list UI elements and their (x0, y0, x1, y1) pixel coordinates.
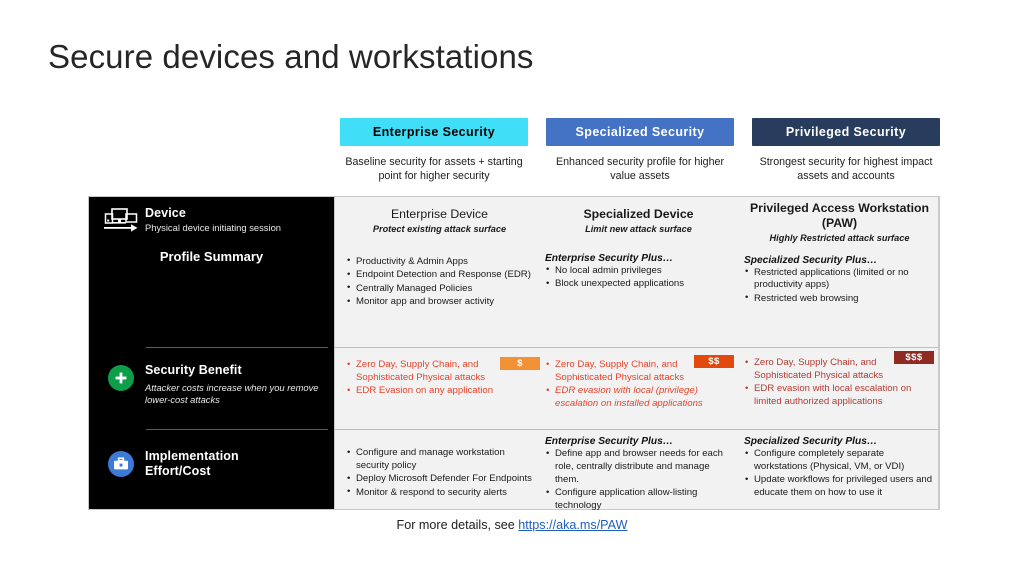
rail-divider-2 (146, 429, 328, 430)
list-item: Centrally Managed Policies (346, 283, 533, 296)
list-item: Monitor app and browser activity (346, 296, 533, 309)
list-item: Update workflows for privileged users an… (744, 474, 935, 500)
cell-plus-line: Enterprise Security Plus… (545, 253, 732, 264)
row-title-implementation-line1: Implementation (145, 449, 326, 464)
column-header-privileged: Privileged Security Strongest security f… (752, 118, 940, 183)
list-item: Endpoint Detection and Response (EDR) (346, 269, 533, 282)
list-item: Deploy Microsoft Defender For Endpoints (346, 473, 533, 486)
cell-plus-line: Specialized Security Plus… (744, 436, 935, 447)
cell-device-enterprise: Enterprise Device Protect existing attac… (340, 207, 539, 310)
bullet-list: Define app and browser needs for each ro… (545, 448, 732, 513)
list-item: Restricted applications (limited or no p… (744, 267, 935, 293)
row-subtitle-device: Physical device initiating session (145, 222, 326, 234)
cell-plus-line: Specialized Security Plus… (744, 255, 935, 266)
column-subtitle-enterprise: Baseline security for assets + starting … (340, 155, 528, 183)
bullet-list: Configure completely separate workstatio… (744, 448, 935, 500)
page-title: Secure devices and workstations (48, 38, 534, 76)
row-title-security-benefit: Security Benefit (145, 363, 326, 378)
bullet-list: Productivity & Admin Apps Endpoint Detec… (346, 256, 533, 309)
bullet-list: Restricted applications (limited or no p… (744, 267, 935, 306)
matrix-body: Enterprise Device Protect existing attac… (334, 197, 939, 509)
bullet-list: Zero Day, Supply Chain, and Sophisticate… (744, 357, 935, 409)
list-item: Productivity & Admin Apps (346, 256, 533, 269)
bullet-list: No local admin privileges Block unexpect… (545, 265, 732, 291)
column-divider-left (334, 197, 335, 509)
list-item: Configure and manage workstation securit… (346, 447, 533, 473)
column-headers: Enterprise Security Baseline security fo… (340, 118, 940, 190)
row-label-security-benefit: Security Benefit Attacker costs increase… (89, 347, 334, 429)
list-item: Monitor & respond to security alerts (346, 487, 533, 500)
cell-subheading: Protect existing attack surface (346, 224, 533, 234)
column-bar-enterprise: Enterprise Security (340, 118, 528, 146)
column-subtitle-specialized: Enhanced security profile for higher val… (546, 155, 734, 183)
cell-implementation-specialized: Enterprise Security Plus… Define app and… (539, 436, 738, 514)
cell-subheading: Limit new attack surface (545, 224, 732, 234)
column-header-specialized: Specialized Security Enhanced security p… (546, 118, 734, 183)
column-label-enterprise: Enterprise Security (373, 125, 495, 139)
list-item: Configure application allow-listing tech… (545, 487, 732, 513)
row-label-device: Device Physical device initiating sessio… (89, 197, 334, 347)
bullet-list: Configure and manage workstation securit… (346, 447, 533, 500)
cell-heading: Enterprise Device (346, 207, 533, 222)
column-bar-privileged: Privileged Security (752, 118, 940, 146)
cell-benefit-enterprise: $ Zero Day, Supply Chain, and Sophistica… (340, 359, 539, 399)
cell-heading: Privileged Access Workstation (PAW) (744, 201, 935, 231)
device-monitor-icon (97, 206, 145, 234)
cell-subheading: Highly Restricted attack surface (744, 233, 935, 243)
column-subtitle-privileged: Strongest security for highest impact as… (752, 155, 940, 183)
profile-summary-label: Profile Summary (89, 249, 334, 264)
list-item: Zero Day, Supply Chain, and Sophisticate… (346, 359, 533, 385)
capability-matrix: Device Physical device initiating sessio… (88, 196, 940, 510)
rail-divider-1 (146, 347, 328, 348)
column-header-enterprise: Enterprise Security Baseline security fo… (340, 118, 528, 183)
row-divider-2 (334, 429, 939, 430)
cell-benefit-specialized: $$ Zero Day, Supply Chain, and Sophistic… (539, 359, 738, 412)
list-item: EDR Evasion on any application (346, 385, 533, 398)
list-item: No local admin privileges (545, 265, 732, 278)
list-item: Restricted web browsing (744, 293, 935, 306)
paw-link[interactable]: https://aka.ms/PAW (518, 518, 627, 532)
list-item: Zero Day, Supply Chain, and Sophisticate… (545, 359, 732, 385)
list-item: Define app and browser needs for each ro… (545, 448, 732, 487)
cell-heading: Specialized Device (545, 207, 732, 222)
list-item: Configure completely separate workstatio… (744, 448, 935, 474)
row-title-implementation-line2: Effort/Cost (145, 464, 326, 479)
cell-implementation-enterprise: Configure and manage workstation securit… (340, 447, 539, 500)
slide-canvas: Secure devices and workstations Enterpri… (0, 0, 1024, 576)
row-title-device: Device (145, 206, 326, 221)
bullet-list: Zero Day, Supply Chain, and Sophisticate… (346, 359, 533, 398)
column-label-specialized: Specialized Security (576, 125, 705, 139)
cell-device-specialized: Specialized Device Limit new attack surf… (539, 207, 738, 292)
row-subtitle-security-benefit: Attacker costs increase when you remove … (145, 382, 326, 406)
list-item: EDR evasion with local (privilege) escal… (545, 385, 732, 411)
row-label-implementation: Implementation Effort/Cost (89, 429, 334, 511)
matrix-left-rail: Device Physical device initiating sessio… (89, 197, 334, 509)
cell-benefit-privileged: $$$ Zero Day, Supply Chain, and Sophisti… (738, 357, 941, 410)
list-item: EDR evasion with local escalation on lim… (744, 383, 935, 409)
column-label-privileged: Privileged Security (786, 125, 906, 139)
footer-prefix: For more details, see (397, 518, 519, 532)
list-item: Block unexpected applications (545, 278, 732, 291)
footer-note: For more details, see https://aka.ms/PAW (0, 518, 1024, 532)
row-divider-1 (334, 347, 939, 348)
bullet-list: Zero Day, Supply Chain, and Sophisticate… (545, 359, 732, 411)
cell-device-privileged: Privileged Access Workstation (PAW) High… (738, 201, 941, 306)
cell-plus-line: Enterprise Security Plus… (545, 436, 732, 447)
column-bar-specialized: Specialized Security (546, 118, 734, 146)
cell-implementation-privileged: Specialized Security Plus… Configure com… (738, 436, 941, 501)
list-item: Zero Day, Supply Chain, and Sophisticate… (744, 357, 935, 383)
briefcase-icon (97, 449, 145, 477)
plus-circle-icon (97, 363, 145, 391)
